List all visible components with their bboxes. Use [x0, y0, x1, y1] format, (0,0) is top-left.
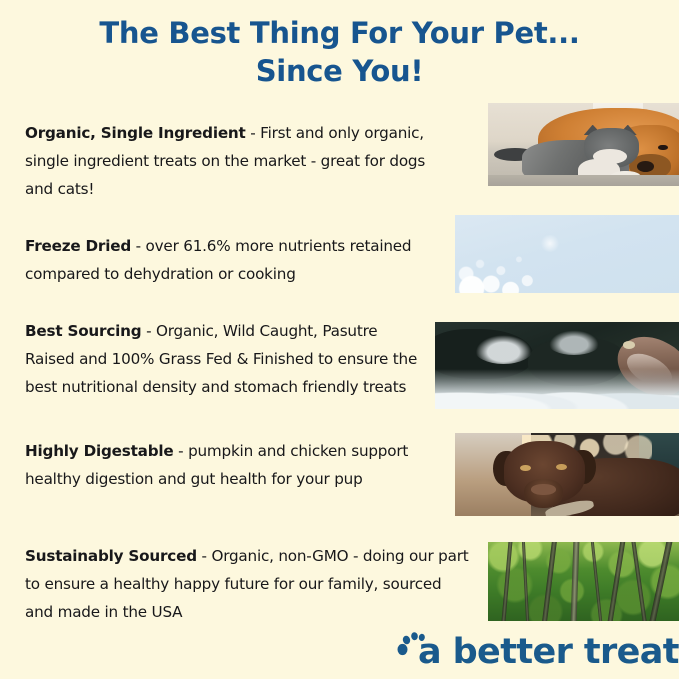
feature-separator: - [246, 124, 261, 142]
feature-title: Sustainably Sourced [25, 547, 197, 565]
infographic-page: The Best Thing For Your Pet... Since You… [0, 0, 679, 679]
brand-logo: a better treat [396, 630, 672, 676]
lab-eye-left [520, 465, 531, 472]
page-title-line-1: The Best Thing For Your Pet... [0, 14, 679, 52]
leaf-canopy [488, 542, 679, 621]
forest-canopy-photo [488, 542, 679, 621]
feature-sustainably-sourced: Sustainably Sourced - Organic, non-GMO -… [25, 542, 473, 626]
lab-nose [531, 484, 556, 495]
chocolate-lab-photo [455, 433, 679, 516]
golden-retriever-eye [658, 145, 668, 151]
whitewater-foam [435, 369, 679, 409]
golden-retriever-nose [637, 161, 654, 172]
feature-separator: - [141, 322, 156, 340]
feature-separator: - [174, 442, 189, 460]
feature-organic-single-ingredient: Organic, Single Ingredient - First and o… [25, 119, 457, 203]
feature-title: Organic, Single Ingredient [25, 124, 246, 142]
feature-highly-digestable: Highly Digestable - pumpkin and chicken … [25, 437, 445, 493]
feature-title: Freeze Dried [25, 237, 131, 255]
feature-best-sourcing: Best Sourcing - Organic, Wild Caught, Pa… [25, 317, 429, 401]
feature-freeze-dried: Freeze Dried - over 61.6% more nutrients… [25, 232, 451, 288]
cat-and-dog-photo [488, 103, 679, 186]
page-title-line-2: Since You! [0, 52, 679, 90]
water-splash-left [474, 334, 533, 364]
feature-title: Highly Digestable [25, 442, 174, 460]
feature-title: Best Sourcing [25, 322, 141, 340]
water-splash-right [547, 329, 601, 355]
salmon-eye [623, 341, 635, 349]
floor [488, 175, 679, 186]
salmon-rapids-photo [435, 322, 679, 409]
ice-crystals-photo [455, 215, 679, 293]
feature-separator: - [131, 237, 146, 255]
page-title: The Best Thing For Your Pet... Since You… [0, 14, 679, 90]
feature-separator: - [197, 547, 212, 565]
frost-cluster [455, 237, 594, 293]
cat-muzzle [593, 149, 627, 164]
logo-wordmark: a better treat [418, 630, 679, 674]
